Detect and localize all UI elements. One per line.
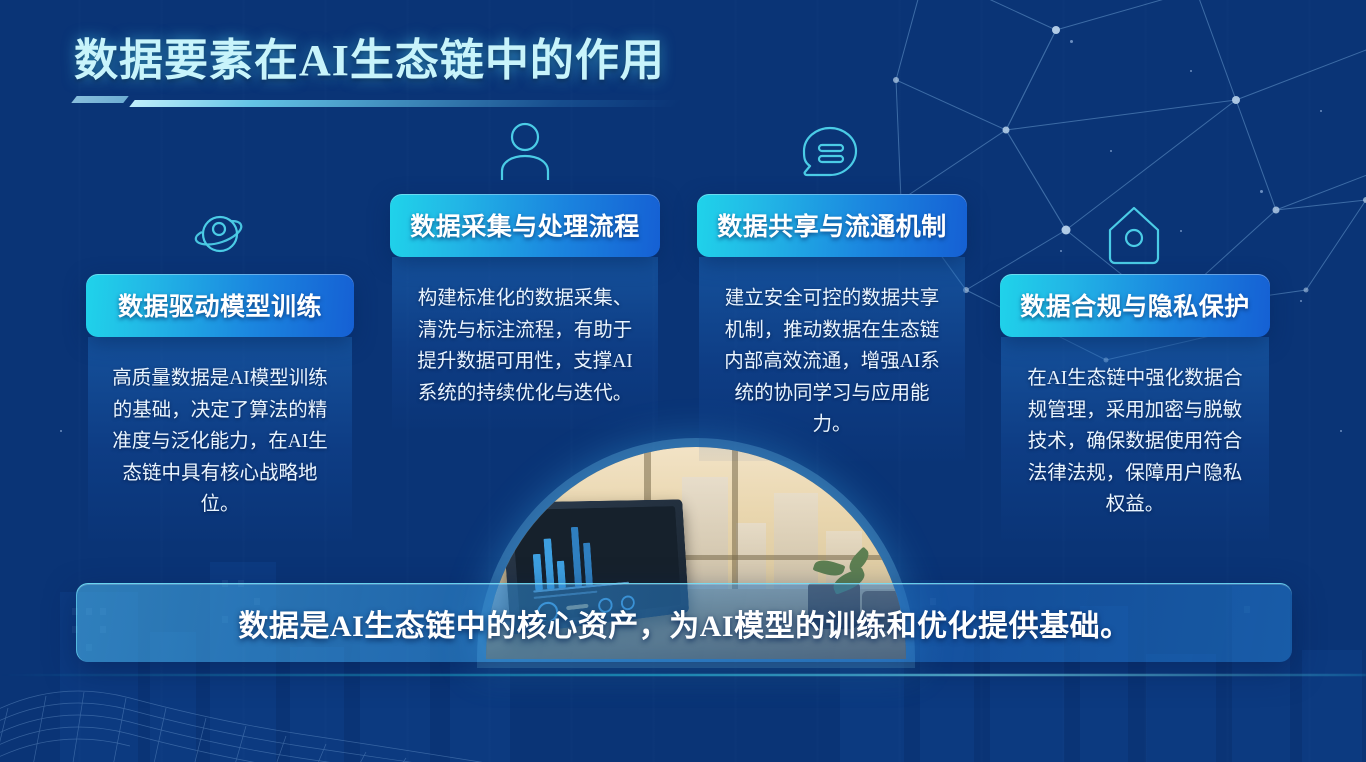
card-compliance-privacy[interactable]: 数据合规与隐私保护 在AI生态链中强化数据合规管理，采用加密与脱敏技术，确保数据… <box>1000 274 1270 541</box>
message-bubble-icon <box>800 124 860 187</box>
card-title: 数据合规与隐私保护 <box>1020 294 1250 321</box>
card-header: 数据合规与隐私保护 <box>1000 274 1270 337</box>
page-title-block: 数据要素在AI生态链中的作用 <box>74 24 684 112</box>
summary-banner-text: 数据是AI生态链中的核心资产，为AI模型的训练和优化提供基础。 <box>238 601 1130 645</box>
card-body: 构建标准化的数据采集、清洗与标注流程，有助于提升数据可用性，支撑AI系统的持续优… <box>392 257 658 429</box>
card-body: 在AI生态链中强化数据合规管理，采用加密与脱敏技术，确保数据使用符合法律法规，保… <box>1001 337 1269 541</box>
title-underline-decoration <box>74 96 684 112</box>
card-header: 数据驱动模型训练 <box>86 274 354 337</box>
card-sharing-circulation[interactable]: 数据共享与流通机制 建立安全可控的数据共享机制，推动数据在生态链内部高效流通，增… <box>697 194 967 461</box>
page-title: 数据要素在AI生态链中的作用 <box>74 24 684 88</box>
home-icon <box>1106 204 1162 271</box>
card-collection-processing[interactable]: 数据采集与处理流程 构建标准化的数据采集、清洗与标注流程，有助于提升数据可用性，… <box>390 194 660 429</box>
slide-canvas: 数据要素在AI生态链中的作用 <box>0 0 1366 762</box>
card-body-text: 在AI生态链中强化数据合规管理，采用加密与脱敏技术，确保数据使用符合法律法规，保… <box>1019 363 1251 521</box>
horizontal-glow-line <box>0 674 1366 676</box>
planet-icon <box>189 205 251 272</box>
card-header: 数据共享与流通机制 <box>697 194 967 257</box>
card-body: 高质量数据是AI模型训练的基础，决定了算法的精准度与泛化能力，在AI生态链中具有… <box>88 337 352 541</box>
card-body: 建立安全可控的数据共享机制，推动数据在生态链内部高效流通，增强AI系统的协同学习… <box>699 257 965 461</box>
card-body-text: 构建标准化的数据采集、清洗与标注流程，有助于提升数据可用性，支撑AI系统的持续优… <box>410 283 640 409</box>
user-icon <box>496 120 554 187</box>
card-title: 数据采集与处理流程 <box>410 214 640 241</box>
card-header: 数据采集与处理流程 <box>390 194 660 257</box>
card-body-text: 高质量数据是AI模型训练的基础，决定了算法的精准度与泛化能力，在AI生态链中具有… <box>106 363 334 521</box>
card-title: 数据共享与流通机制 <box>717 214 947 241</box>
card-body-text: 建立安全可控的数据共享机制，推动数据在生态链内部高效流通，增强AI系统的协同学习… <box>717 283 947 441</box>
summary-banner: 数据是AI生态链中的核心资产，为AI模型的训练和优化提供基础。 <box>76 583 1292 662</box>
card-data-driven-training[interactable]: 数据驱动模型训练 高质量数据是AI模型训练的基础，决定了算法的精准度与泛化能力，… <box>86 274 354 541</box>
card-title: 数据驱动模型训练 <box>118 294 322 321</box>
